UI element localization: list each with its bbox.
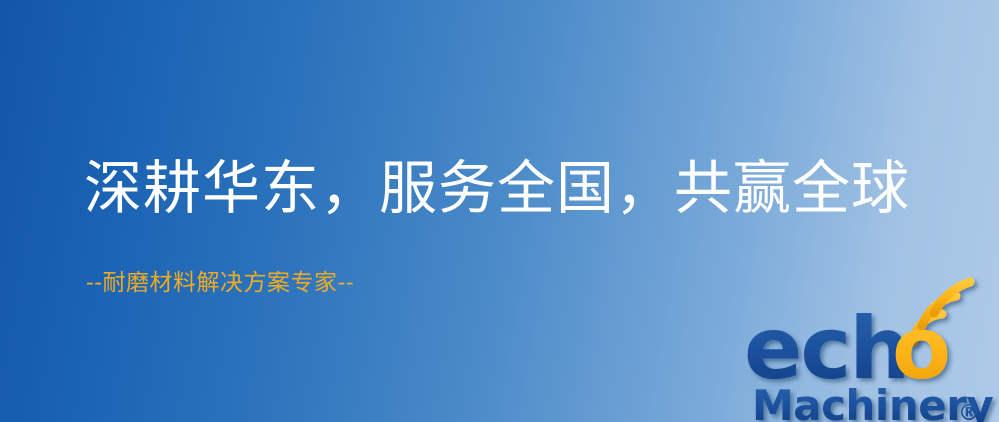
page-title: 深耕华东，服务全国，共赢全球 [84,153,910,223]
hero-banner: 深耕华东，服务全国，共赢全球 --耐磨材料解决方案专家-- [0,0,999,422]
registered-trademark-icon: ® [958,401,980,422]
page-subtitle: --耐磨材料解决方案专家-- [86,268,354,298]
logo-wordmark-machinery: Machinery ® [752,381,993,422]
echo-machinery-logo[interactable]: ech o Machinery ® [742,292,999,422]
